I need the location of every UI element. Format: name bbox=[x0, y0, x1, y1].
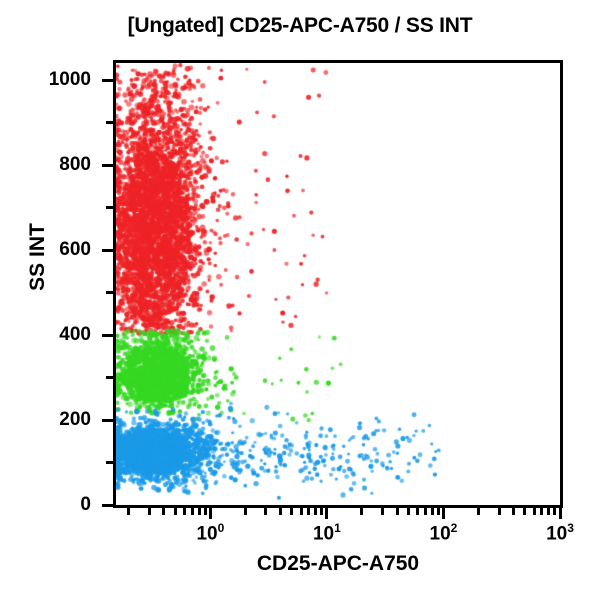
x-axis-tick-label: 101 bbox=[313, 521, 341, 545]
x-axis-minor-tick-mark bbox=[431, 508, 434, 515]
x-axis-minor-tick-mark bbox=[279, 508, 282, 515]
x-axis-tick-label: 100 bbox=[196, 521, 224, 545]
x-axis-minor-tick-mark bbox=[174, 508, 177, 515]
x-axis-minor-tick-mark bbox=[148, 508, 151, 515]
x-axis-minor-tick-mark bbox=[264, 508, 267, 515]
x-axis-minor-tick-mark bbox=[381, 508, 384, 515]
y-axis-minor-tick-mark bbox=[106, 206, 113, 209]
y-axis-tick-label: 1000 bbox=[0, 69, 91, 91]
x-axis-minor-tick-mark bbox=[300, 508, 303, 515]
x-axis-minor-tick-mark bbox=[360, 508, 363, 515]
x-axis-minor-tick-mark bbox=[547, 508, 550, 515]
x-axis-minor-tick-mark bbox=[314, 508, 317, 515]
x-axis-minor-tick-mark bbox=[191, 508, 194, 515]
x-axis-tick-mark bbox=[442, 508, 445, 519]
x-axis-minor-tick-mark bbox=[437, 508, 440, 515]
y-axis-tick-label: 400 bbox=[0, 324, 91, 346]
x-axis-minor-tick-mark bbox=[162, 508, 165, 515]
y-axis-tick-mark bbox=[102, 79, 113, 82]
x-axis-minor-tick-mark bbox=[127, 508, 130, 515]
y-axis-tick-mark bbox=[102, 164, 113, 167]
y-axis-minor-tick-mark bbox=[106, 461, 113, 464]
scatter-plot-canvas[interactable] bbox=[116, 63, 560, 505]
y-axis-minor-tick-mark bbox=[106, 376, 113, 379]
x-axis-minor-tick-mark bbox=[498, 508, 501, 515]
y-axis-tick-label: 800 bbox=[0, 154, 91, 176]
y-axis-tick-label: 200 bbox=[0, 409, 91, 431]
x-axis-minor-tick-mark bbox=[307, 508, 310, 515]
x-axis-minor-tick-mark bbox=[204, 508, 207, 515]
flow-cytometry-plot: [Ungated] CD25-APC-A750 / SS INT 1000800… bbox=[0, 0, 600, 600]
x-axis-minor-tick-mark bbox=[540, 508, 543, 515]
x-axis-minor-tick-mark bbox=[290, 508, 293, 515]
y-axis-tick-mark bbox=[102, 504, 113, 507]
x-axis-minor-tick-mark bbox=[424, 508, 427, 515]
x-axis-tick-label: 102 bbox=[430, 521, 458, 545]
x-axis-minor-tick-mark bbox=[477, 508, 480, 515]
y-axis-tick-mark bbox=[102, 419, 113, 422]
x-axis-minor-tick-mark bbox=[533, 508, 536, 515]
x-axis-tick-mark bbox=[209, 508, 212, 519]
x-axis-minor-tick-mark bbox=[512, 508, 515, 515]
x-axis-minor-tick-mark bbox=[183, 508, 186, 515]
x-axis-tick-mark bbox=[559, 508, 562, 519]
x-axis-minor-tick-mark bbox=[416, 508, 419, 515]
x-axis-minor-tick-mark bbox=[198, 508, 201, 515]
y-axis-tick-label: 0 bbox=[0, 494, 91, 516]
x-axis-label: CD25-APC-A750 bbox=[113, 552, 563, 576]
x-axis-minor-tick-mark bbox=[523, 508, 526, 515]
x-axis-minor-tick-mark bbox=[553, 508, 556, 515]
x-axis-minor-tick-mark bbox=[244, 508, 247, 515]
x-axis-minor-tick-mark bbox=[320, 508, 323, 515]
page-title: [Ungated] CD25-APC-A750 / SS INT bbox=[0, 14, 600, 38]
y-axis-minor-tick-mark bbox=[106, 291, 113, 294]
x-axis-tick-label: 103 bbox=[546, 521, 574, 545]
plot-area[interactable] bbox=[113, 60, 563, 508]
y-axis-tick-mark bbox=[102, 334, 113, 337]
y-axis-minor-tick-mark bbox=[106, 121, 113, 124]
x-axis-minor-tick-mark bbox=[407, 508, 410, 515]
y-axis-label: SS INT bbox=[26, 197, 50, 317]
x-axis-minor-tick-mark bbox=[396, 508, 399, 515]
y-axis-tick-mark bbox=[102, 249, 113, 252]
x-axis-tick-mark bbox=[325, 508, 328, 519]
